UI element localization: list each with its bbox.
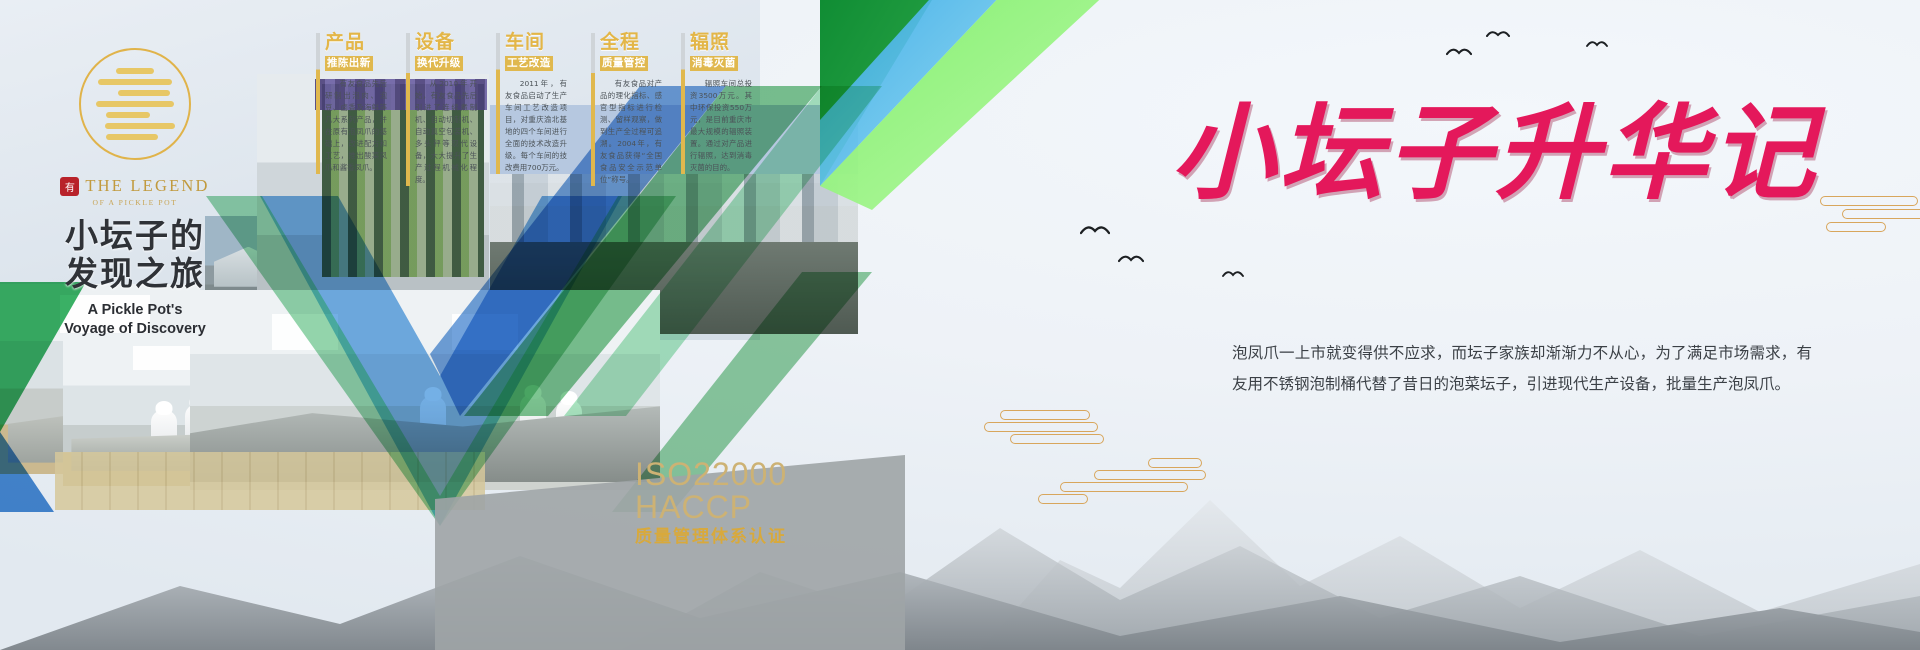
bird-icon bbox=[1486, 28, 1510, 41]
card-title: 辐照 bbox=[690, 33, 752, 53]
card-subtitle: 换代升级 bbox=[415, 56, 463, 71]
card-title: 设备 bbox=[415, 33, 477, 53]
brand-story-banner: 有 THE LEGEND OF A PICKLE POT 小坛子的 发现之旅 A… bbox=[0, 0, 1920, 650]
cloud-motif-mid-right bbox=[1030, 410, 1150, 450]
cloud-motif-lower-right bbox=[1112, 458, 1252, 498]
card-subtitle: 质量管控 bbox=[600, 56, 648, 71]
brand-title-cn-line1: 小坛子的 bbox=[40, 217, 230, 255]
certification-block: ISO22000 HACCP 质量管理体系认证 bbox=[635, 458, 787, 546]
card-rule bbox=[591, 33, 595, 186]
brand-title-en-line1: A Pickle Pot's bbox=[40, 301, 230, 320]
legend-sub-en-text: OF A PICKLE POT bbox=[40, 198, 230, 207]
card-title: 车间 bbox=[505, 33, 567, 53]
certification-caption: 质量管理体系认证 bbox=[635, 529, 787, 547]
red-seal-icon: 有 bbox=[60, 177, 79, 196]
card-title: 全程 bbox=[600, 33, 662, 53]
card-body: 有友食品对产品的理化指标、感官型指标进行检测、留样观察，做到生产全过程可追溯。2… bbox=[600, 78, 662, 186]
brand-title-en-line2: Voyage of Discovery bbox=[40, 320, 230, 339]
card-subtitle: 消毒灭菌 bbox=[690, 56, 738, 71]
floor-tile-texture bbox=[55, 452, 485, 510]
timeline-card-equipment: 设备 换代升级 从2010年开始，有友食品先后引进了连续煮制机、自动切制机、自动… bbox=[415, 33, 477, 186]
page-title: 小坛子升华记 bbox=[1185, 88, 1805, 218]
card-subtitle: 推陈出新 bbox=[325, 56, 373, 71]
brand-title-cn-line2: 发现之旅 bbox=[40, 255, 230, 293]
cloud-motif-upper-right bbox=[1820, 196, 1920, 236]
timeline-card-quality: 全程 质量管控 有友食品对产品的理化指标、感官型指标进行检测、留样观察，做到生产… bbox=[600, 33, 662, 186]
card-rule bbox=[406, 33, 410, 186]
brand-title-en: A Pickle Pot's Voyage of Discovery bbox=[40, 301, 230, 339]
pickle-pot-emblem-icon bbox=[79, 48, 191, 160]
card-rule bbox=[496, 33, 500, 174]
iso-standard-text: ISO22000 bbox=[635, 458, 787, 491]
card-subtitle: 工艺改造 bbox=[505, 56, 553, 71]
bird-icon bbox=[1586, 38, 1608, 50]
brand-lockup: 有 THE LEGEND OF A PICKLE POT 小坛子的 发现之旅 A… bbox=[40, 48, 230, 339]
timeline-card-product: 产品 推陈出新 有友食品先后研制出泡肉、泡豆、卤香及海鲜等几大系列产品，并在原有… bbox=[325, 33, 387, 174]
bird-icon bbox=[1080, 222, 1110, 238]
card-body: 从2010年开始，有友食品先后引进了连续煮制机、自动切制机、自动真空包装机、多头… bbox=[415, 78, 477, 186]
card-body: 2011年，有友食品启动了生产车间工艺改造项目，对重庆渝北基地的四个车间进行全面… bbox=[505, 78, 567, 174]
card-rule bbox=[681, 33, 685, 174]
legend-en-text: THE LEGEND bbox=[85, 176, 209, 196]
story-paragraph: 泡凤爪一上市就变得供不应求，而坛子家族却渐渐力不从心，为了满足市场需求，有友用不… bbox=[1232, 338, 1812, 402]
card-body: 有友食品先后研制出泡肉、泡豆、卤香及海鲜等几大系列产品，并在原有泡凤爪的基础上，… bbox=[325, 78, 387, 174]
legend-wordmark: 有 THE LEGEND bbox=[40, 176, 230, 196]
card-title: 产品 bbox=[325, 33, 387, 53]
brand-title-cn: 小坛子的 发现之旅 bbox=[40, 217, 230, 294]
haccp-standard-text: HACCP bbox=[635, 491, 787, 524]
timeline-card-irradiation: 辐照 消毒灭菌 辐照车间总投资3500万元。其中环保投资550万元，是目前重庆市… bbox=[690, 33, 752, 174]
bird-icon bbox=[1222, 268, 1244, 280]
card-body: 辐照车间总投资3500万元。其中环保投资550万元，是目前重庆市最大规模的辐照装… bbox=[690, 78, 752, 174]
timeline-card-workshop: 车间 工艺改造 2011年，有友食品启动了生产车间工艺改造项目，对重庆渝北基地的… bbox=[505, 33, 567, 174]
card-rule bbox=[316, 33, 320, 174]
bird-icon bbox=[1446, 45, 1472, 59]
bird-icon bbox=[1118, 252, 1144, 266]
